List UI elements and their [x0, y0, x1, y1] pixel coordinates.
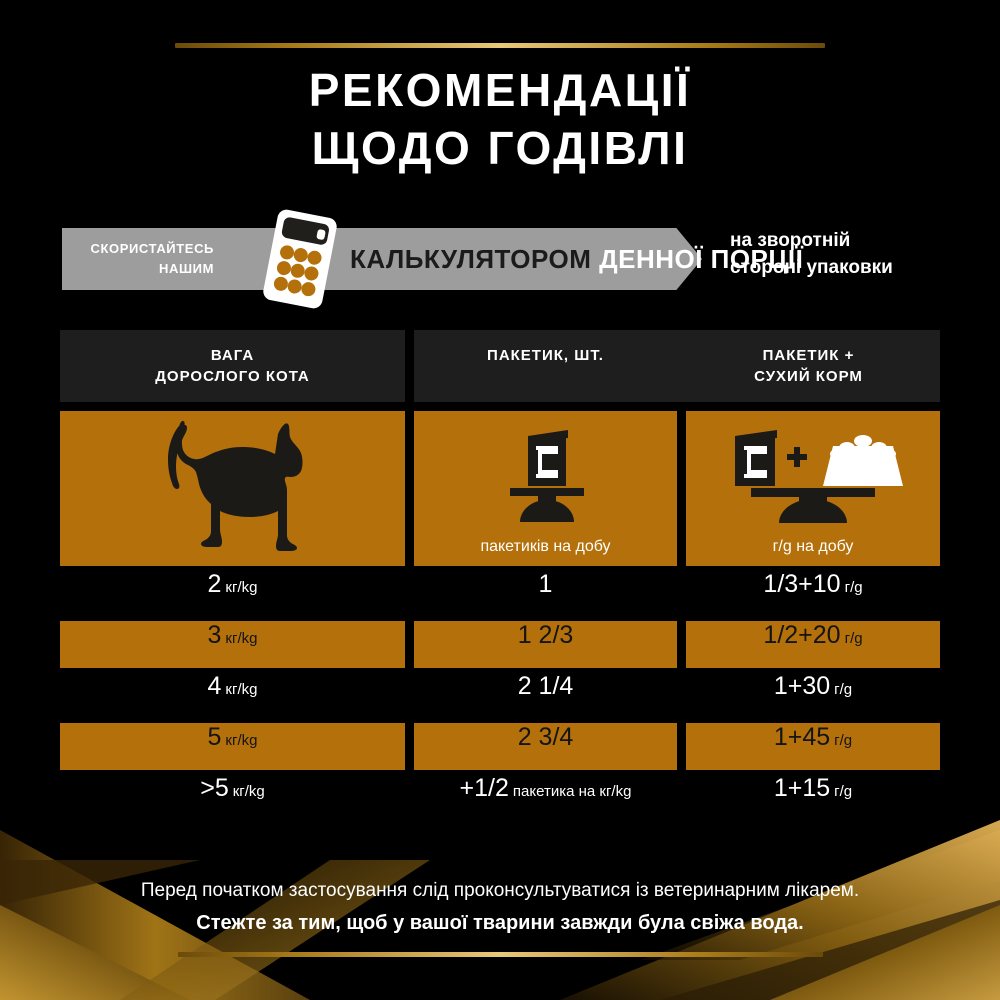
cell-weight-value: 3	[208, 621, 222, 650]
cell-pouches-unit: пакетика на кг/kg	[513, 783, 632, 800]
feeding-guide-page: РЕКОМЕНДАЦІЇ ЩОДО ГОДІВЛІ СКОРИСТАЙТЕСЬ …	[0, 0, 1000, 1000]
banner-side-line1: на зворотній	[730, 228, 990, 255]
table-header-mixed-line2: СУХИЙ КОРМ	[677, 366, 940, 387]
cat-cell	[60, 411, 405, 566]
table-row: 3кг/kg1 2/31/2+20г/g	[60, 621, 940, 668]
pouch-scale-cell: пакетиків на добу	[414, 411, 677, 566]
table-row: >5кг/kg+1/2пакетика на кг/kg1+15г/g	[60, 774, 940, 821]
page-title-line2: ЩОДО ГОДІВЛІ	[0, 120, 1000, 178]
table-header-weight-line1: ВАГА	[155, 345, 310, 366]
cat-silhouette-icon	[128, 416, 338, 551]
pouch-bowl-scale-cell: г/g на добу	[686, 411, 940, 566]
table-row: 4кг/kg2 1/41+30г/g	[60, 672, 940, 719]
cell-weight: 2кг/kg	[60, 570, 405, 617]
footer-notes: Перед початком застосування слід проконс…	[0, 880, 1000, 935]
table-icon-row: пакетиків на добу	[60, 411, 940, 566]
table-header-mixed: ПАКЕТИК + СУХИЙ КОРМ	[677, 345, 940, 387]
banner-main-dark: КАЛЬКУЛЯТОРОМ	[350, 244, 591, 274]
cell-weight-value: 2	[208, 570, 222, 599]
cell-pouches-value: 2 3/4	[518, 723, 574, 752]
cell-mixed: 1+30г/g	[686, 672, 940, 719]
footer-line-2: Стежте за тим, щоб у вашої тварини завжд…	[0, 912, 1000, 935]
calculator-icon	[261, 207, 340, 311]
cell-pouches: +1/2пакетика на кг/kg	[414, 774, 677, 821]
banner-side-line2: стороні упаковки	[730, 255, 990, 282]
page-title-line1: РЕКОМЕНДАЦІЇ	[0, 62, 1000, 120]
cell-mixed: 1/2+20г/g	[686, 621, 940, 668]
cell-weight-unit: кг/kg	[225, 681, 257, 698]
cell-weight: >5кг/kg	[60, 774, 405, 821]
cell-weight-unit: кг/kg	[233, 783, 265, 800]
pouch-scale-caption: пакетиків на добу	[480, 538, 610, 556]
cell-mixed: 1+15г/g	[686, 774, 940, 821]
table-header-weight-line2: ДОРОСЛОГО КОТА	[155, 366, 310, 387]
table-body: 2кг/kg11/3+10г/g3кг/kg1 2/31/2+20г/g4кг/…	[60, 570, 940, 821]
cell-pouches: 2 1/4	[414, 672, 677, 719]
gold-divider-top	[175, 43, 825, 48]
gold-divider-bottom	[178, 952, 823, 957]
footer-line-1: Перед початком застосування слід проконс…	[0, 880, 1000, 902]
table-row: 2кг/kg11/3+10г/g	[60, 570, 940, 617]
cell-mixed-value: 1/2+20	[763, 621, 840, 650]
cell-pouches: 1 2/3	[414, 621, 677, 668]
cell-weight: 5кг/kg	[60, 723, 405, 770]
cell-mixed-unit: г/g	[834, 783, 852, 800]
cell-pouches-value: 2 1/4	[518, 672, 574, 701]
pouch-plus-bowl-on-scale-icon	[717, 422, 909, 527]
cell-weight-value: 4	[208, 672, 222, 701]
cell-weight-unit: кг/kg	[225, 732, 257, 749]
cell-weight-unit: кг/kg	[225, 579, 257, 596]
calculator-banner[interactable]: СКОРИСТАЙТЕСЬ НАШИМ КАЛЬКУЛЯТОРОМ ДЕННОЇ…	[62, 228, 702, 290]
cell-mixed-value: 1/3+10	[763, 570, 840, 599]
table-header-weight: ВАГА ДОРОСЛОГО КОТА	[60, 330, 405, 402]
cell-weight: 4кг/kg	[60, 672, 405, 719]
cell-mixed-value: 1+30	[774, 672, 830, 701]
cell-pouches: 2 3/4	[414, 723, 677, 770]
table-header-pouches: ПАКЕТИК, ШТ.	[414, 345, 677, 387]
feeding-table: ВАГА ДОРОСЛОГО КОТА ПАКЕТИК, ШТ. ПАКЕТИК…	[60, 330, 940, 821]
page-title: РЕКОМЕНДАЦІЇ ЩОДО ГОДІВЛІ	[0, 62, 1000, 178]
cell-weight: 3кг/kg	[60, 621, 405, 668]
cell-pouches-value: +1/2	[460, 774, 509, 803]
cell-mixed: 1+45г/g	[686, 723, 940, 770]
cell-mixed: 1/3+10г/g	[686, 570, 940, 617]
cell-mixed-value: 1+15	[774, 774, 830, 803]
table-header-mixed-line1: ПАКЕТИК +	[677, 345, 940, 366]
pouch-bowl-scale-caption: г/g на добу	[773, 538, 854, 556]
table-row: 5кг/kg2 3/41+45г/g	[60, 723, 940, 770]
cell-mixed-unit: г/g	[845, 630, 863, 647]
cell-mixed-unit: г/g	[845, 579, 863, 596]
cell-pouches-value: 1 2/3	[518, 621, 574, 650]
cell-weight-value: 5	[208, 723, 222, 752]
cell-weight-unit: кг/kg	[225, 630, 257, 647]
cell-pouches-value: 1	[539, 570, 553, 599]
cell-mixed-unit: г/g	[834, 732, 852, 749]
cell-weight-value: >5	[200, 774, 229, 803]
banner-left-label: СКОРИСТАЙТЕСЬ НАШИМ	[74, 239, 214, 278]
pouch-on-scale-icon	[486, 422, 606, 527]
banner-side-note: на зворотній стороні упаковки	[730, 228, 990, 282]
table-header-group: ПАКЕТИК, ШТ. ПАКЕТИК + СУХИЙ КОРМ	[414, 330, 940, 402]
cell-mixed-unit: г/g	[834, 681, 852, 698]
cell-pouches: 1	[414, 570, 677, 617]
table-header-row: ВАГА ДОРОСЛОГО КОТА ПАКЕТИК, ШТ. ПАКЕТИК…	[60, 330, 940, 402]
cell-mixed-value: 1+45	[774, 723, 830, 752]
